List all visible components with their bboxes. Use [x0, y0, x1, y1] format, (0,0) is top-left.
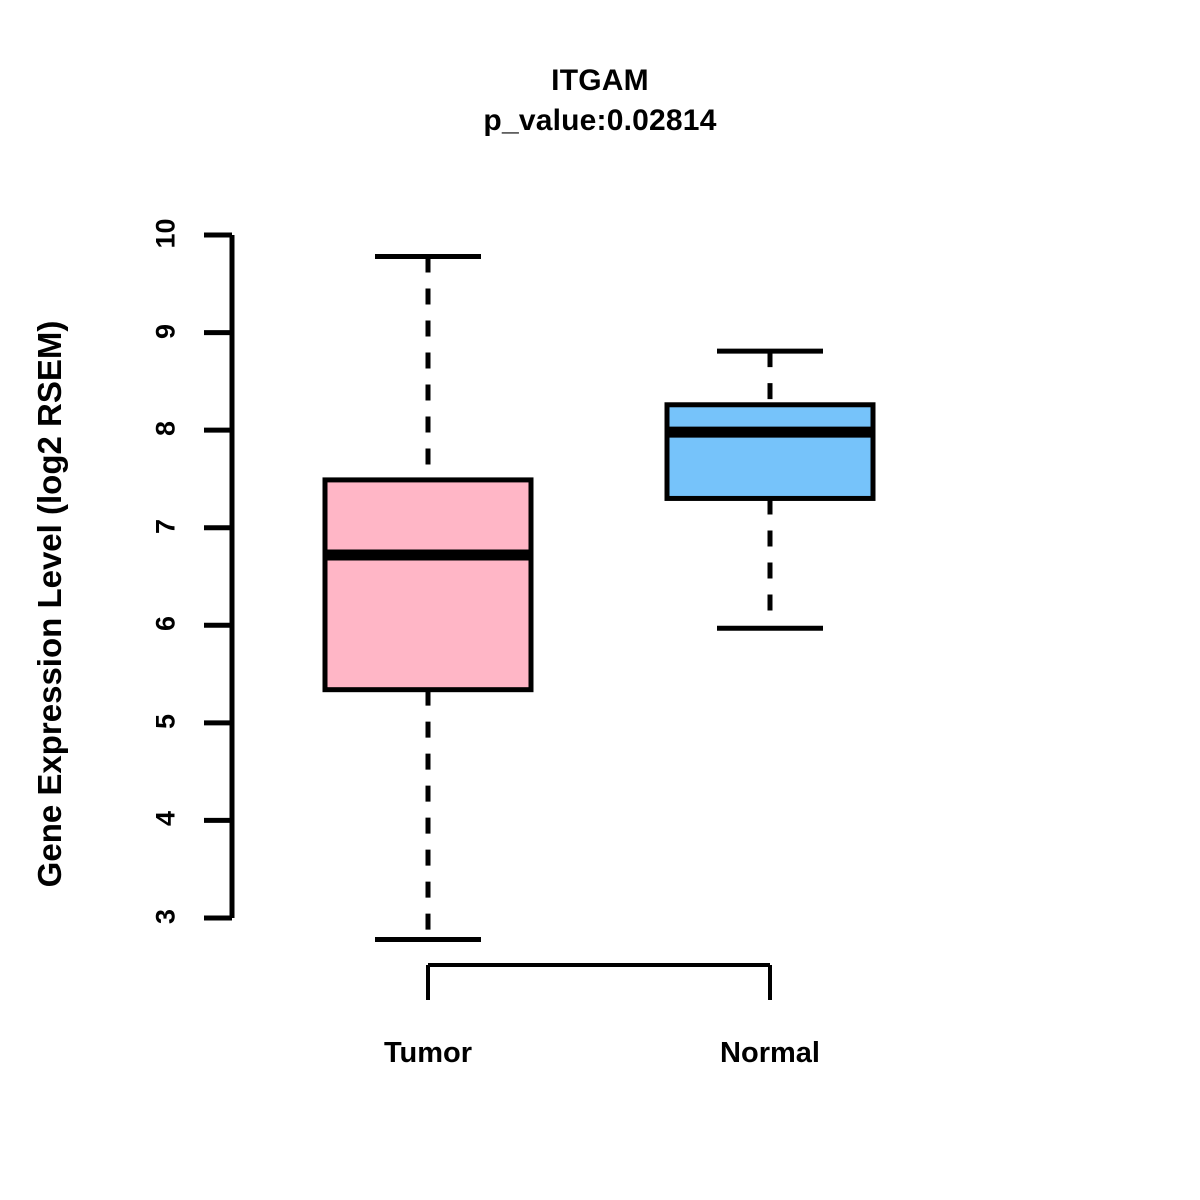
y-tick-label: 6	[151, 594, 182, 654]
y-tick-label: 5	[151, 691, 182, 751]
y-tick-label: 7	[151, 496, 182, 556]
y-tick-label: 4	[151, 789, 182, 849]
y-tick-label: 9	[151, 301, 182, 361]
box-tumor	[325, 480, 531, 690]
boxplot-figure: ITGAM p_value:0.02814 Gene Expression Le…	[0, 0, 1200, 1200]
y-axis	[204, 235, 232, 918]
box-normal	[667, 405, 873, 499]
y-tick-label: 3	[151, 887, 182, 947]
y-tick-label: 8	[151, 399, 182, 459]
y-tick-label: 10	[151, 204, 182, 264]
box-series	[325, 256, 873, 939]
x-tick-label-tumor: Tumor	[278, 1037, 578, 1070]
x-axis-bracket	[428, 965, 770, 1000]
x-tick-label-normal: Normal	[620, 1037, 920, 1070]
